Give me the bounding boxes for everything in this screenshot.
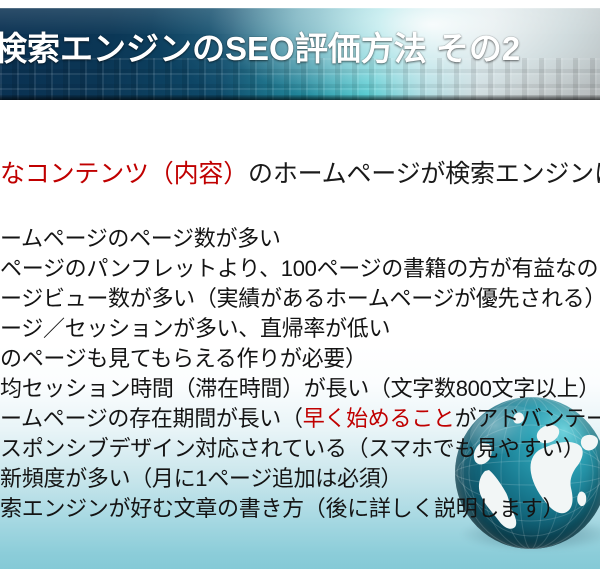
- lead-highlight: なコンテンツ（内容）: [0, 160, 248, 188]
- bullet-item: 索エンジンが好む文章の書き方（後に詳しく説明します）: [0, 494, 600, 524]
- slide-title: 検索エンジンのSEO評価方法 その2: [0, 22, 600, 70]
- bullet-text: ページのパンフレットより、100ページの書籍の方が有益なのは当たり: [0, 256, 600, 281]
- bullet-text: 均セッション時間（滞在時間）が長い（文字数800文字以上）: [0, 376, 600, 401]
- bullet-text: ームページのページ数が多い: [0, 226, 281, 251]
- bullet-text: ージ／セッションが多い、直帰率が低い: [0, 316, 390, 341]
- bullet-item: ージビュー数が多い（実績があるホームページが優先される）: [0, 284, 600, 314]
- bullet-item: ームページの存在期間が長い（早く始めることがアドバンテージ）: [0, 404, 600, 434]
- lead-sentence: なコンテンツ（内容）のホームページが検索エンジンに評価: [0, 154, 600, 190]
- lead-rest: のホームページが検索エンジンに評価: [248, 160, 600, 188]
- slide-canvas: 検索エンジンのSEO評価方法 その2: [0, 0, 600, 572]
- bullet-text: スポンシブデザイン対応されている（スマホでも見やすい）: [0, 436, 585, 461]
- bullet-item: ージ／セッションが多い、直帰率が低い: [0, 314, 600, 344]
- bullet-item: のページも見てもらえる作りが必要）: [0, 344, 600, 374]
- bullet-text: 新頻度が多い（月に1ページ追加は必須）: [0, 466, 402, 491]
- bullet-text: のページも見てもらえる作りが必要）: [0, 346, 367, 371]
- bullet-list: ームページのページ数が多い ページのパンフレットより、100ページの書籍の方が有…: [0, 224, 600, 524]
- bullet-text-pre: ームページの存在期間が長い（: [0, 406, 303, 431]
- bullet-item: ームページのページ数が多い: [0, 224, 600, 254]
- bullet-text: 索エンジンが好む文章の書き方（後に詳しく説明します）: [0, 496, 564, 521]
- bullet-item: ページのパンフレットより、100ページの書籍の方が有益なのは当たり: [0, 254, 600, 284]
- bullet-item: 新頻度が多い（月に1ページ追加は必須）: [0, 464, 600, 494]
- slide-body: なコンテンツ（内容）のホームページが検索エンジンに評価 ームページのページ数が多…: [0, 100, 600, 572]
- bullet-item: スポンシブデザイン対応されている（スマホでも見やすい）: [0, 434, 600, 464]
- bullet-text: ージビュー数が多い（実績があるホームページが優先される）: [0, 286, 600, 311]
- bullet-text-post: がアドバンテージ）: [455, 406, 600, 431]
- bullet-item: 均セッション時間（滞在時間）が長い（文字数800文字以上）: [0, 374, 600, 404]
- bullet-text-highlight: 早く始めること: [303, 406, 455, 431]
